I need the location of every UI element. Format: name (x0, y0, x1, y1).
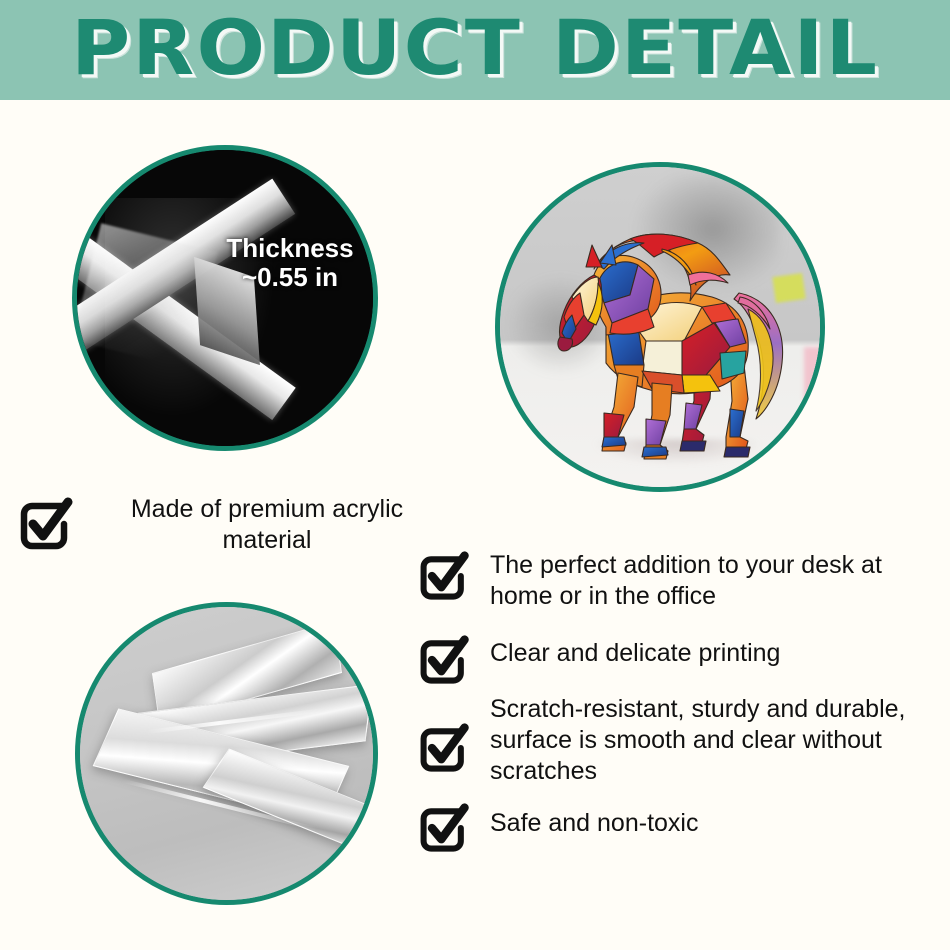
header-band: PRODUCT DETAIL (0, 0, 950, 100)
checkbox-checked-icon (418, 722, 472, 781)
horse-figurine-photo (495, 162, 825, 492)
checkbox-checked-icon (418, 802, 472, 861)
pink-object (804, 347, 824, 401)
feature-safe: Safe and non-toxic (418, 802, 938, 861)
stained-glass-horse-icon (534, 223, 800, 463)
acrylic-sheets-photo (75, 602, 378, 905)
feature-printing: Clear and delicate printing (418, 634, 938, 693)
checkbox-checked-icon (18, 496, 76, 559)
thickness-photo-scene (77, 150, 373, 446)
page-title: PRODUCT DETAIL (71, 9, 879, 91)
feature-scratch-label: Scratch-resistant, sturdy and durable, s… (490, 694, 938, 787)
feature-desk: The perfect addition to your desk at hom… (418, 550, 938, 612)
checkbox-checked-icon (418, 550, 472, 609)
acrylic-glow (105, 198, 275, 418)
feature-scratch: Scratch-resistant, sturdy and durable, s… (418, 694, 938, 787)
thickness-photo: Thickness ~0.55 in (72, 145, 378, 451)
checkbox-checked-icon (418, 634, 472, 693)
feature-desk-label: The perfect addition to your desk at hom… (490, 550, 938, 612)
feature-acrylic: Made of premium acrylic material (18, 494, 438, 559)
thickness-caption-line1: Thickness (205, 234, 375, 263)
feature-acrylic-label: Made of premium acrylic material (102, 494, 432, 556)
feature-printing-label: Clear and delicate printing (490, 638, 780, 669)
thickness-caption: Thickness ~0.55 in (205, 234, 375, 292)
thickness-caption-line2: ~0.55 in (205, 263, 375, 292)
feature-safe-label: Safe and non-toxic (490, 808, 698, 839)
